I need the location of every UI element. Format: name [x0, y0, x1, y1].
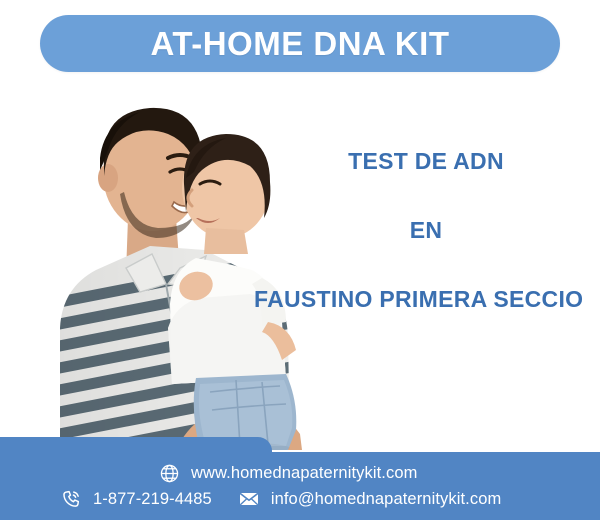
email-text: info@homednapaternitykit.com: [271, 491, 502, 508]
globe-icon: [158, 462, 180, 484]
website-item[interactable]: www.homednapaternitykit.com: [158, 462, 417, 484]
website-text: www.homednapaternitykit.com: [191, 465, 417, 482]
promo-line-3: FAUSTINO PRIMERA SECCIO: [254, 288, 600, 311]
header-banner: AT-HOME DNA KIT: [40, 15, 560, 72]
promo-line-2: EN: [240, 219, 600, 242]
footer-contact-bar: www.homednapaternitykit.com 1-877-219-44…: [0, 437, 600, 520]
page-title: AT-HOME DNA KIT: [151, 27, 450, 60]
promo-text-block: TEST DE ADN EN FAUSTINO PRIMERA SECCIO: [240, 150, 600, 311]
promo-banner: AT-HOME DNA KIT: [0, 0, 600, 520]
phone-text: 1-877-219-4485: [93, 491, 212, 508]
email-item[interactable]: info@homednapaternitykit.com: [238, 488, 502, 510]
footer-content: www.homednapaternitykit.com 1-877-219-44…: [0, 452, 600, 520]
envelope-icon: [238, 488, 260, 510]
phone-item[interactable]: 1-877-219-4485: [60, 488, 212, 510]
promo-line-1: TEST DE ADN: [240, 150, 600, 173]
footer-row-contact: 1-877-219-4485 info@homednapaternitykit.…: [0, 488, 600, 510]
phone-icon: [60, 488, 82, 510]
footer-row-website: www.homednapaternitykit.com: [0, 462, 600, 484]
